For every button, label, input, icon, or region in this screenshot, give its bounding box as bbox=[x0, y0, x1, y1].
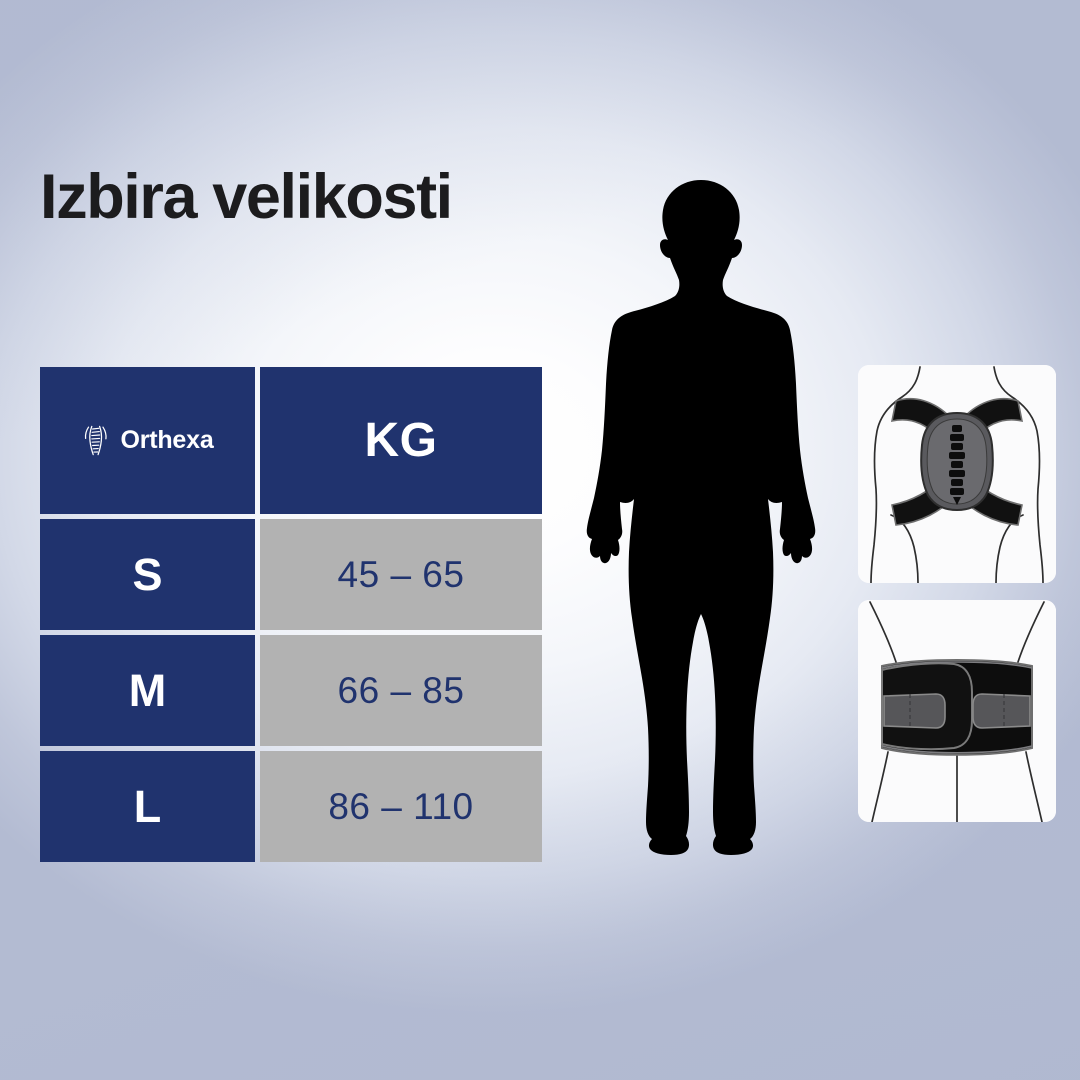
range-cell-l: 86 – 110 bbox=[260, 751, 542, 862]
size-cell-l: L bbox=[40, 751, 255, 862]
range-cell-m: 66 – 85 bbox=[260, 635, 542, 746]
weight-range: 45 – 65 bbox=[338, 554, 465, 596]
size-letter: S bbox=[132, 549, 162, 601]
table-header-row: Orthexa KG bbox=[40, 367, 542, 514]
size-cell-s: S bbox=[40, 519, 255, 630]
table-row: M 66 – 85 bbox=[40, 635, 542, 746]
product-thumbnail-posture-brace[interactable] bbox=[858, 365, 1056, 583]
brand-name: Orthexa bbox=[120, 426, 213, 455]
weight-range: 66 – 85 bbox=[338, 670, 465, 712]
weight-range: 86 – 110 bbox=[328, 786, 473, 828]
size-cell-m: M bbox=[40, 635, 255, 746]
product-thumbnail-lumbar-belt[interactable] bbox=[858, 600, 1056, 822]
page-title: Izbira velikosti bbox=[40, 161, 452, 233]
size-letter: M bbox=[129, 665, 167, 717]
unit-header-cell: KG bbox=[260, 367, 542, 514]
range-cell-s: 45 – 65 bbox=[260, 519, 542, 630]
spine-icon bbox=[81, 424, 111, 458]
posture-corrector-brace-icon bbox=[858, 365, 1056, 583]
female-body-silhouette-icon bbox=[576, 172, 826, 872]
size-chart-table: Orthexa KG S 45 – 65 M 66 – 85 L 86 – 11… bbox=[40, 367, 542, 863]
unit-label: KG bbox=[365, 413, 438, 468]
brand-cell: Orthexa bbox=[40, 367, 255, 514]
lumbar-support-belt-icon bbox=[858, 600, 1056, 822]
table-row: L 86 – 110 bbox=[40, 751, 542, 862]
table-row: S 45 – 65 bbox=[40, 519, 542, 630]
size-letter: L bbox=[134, 781, 162, 833]
